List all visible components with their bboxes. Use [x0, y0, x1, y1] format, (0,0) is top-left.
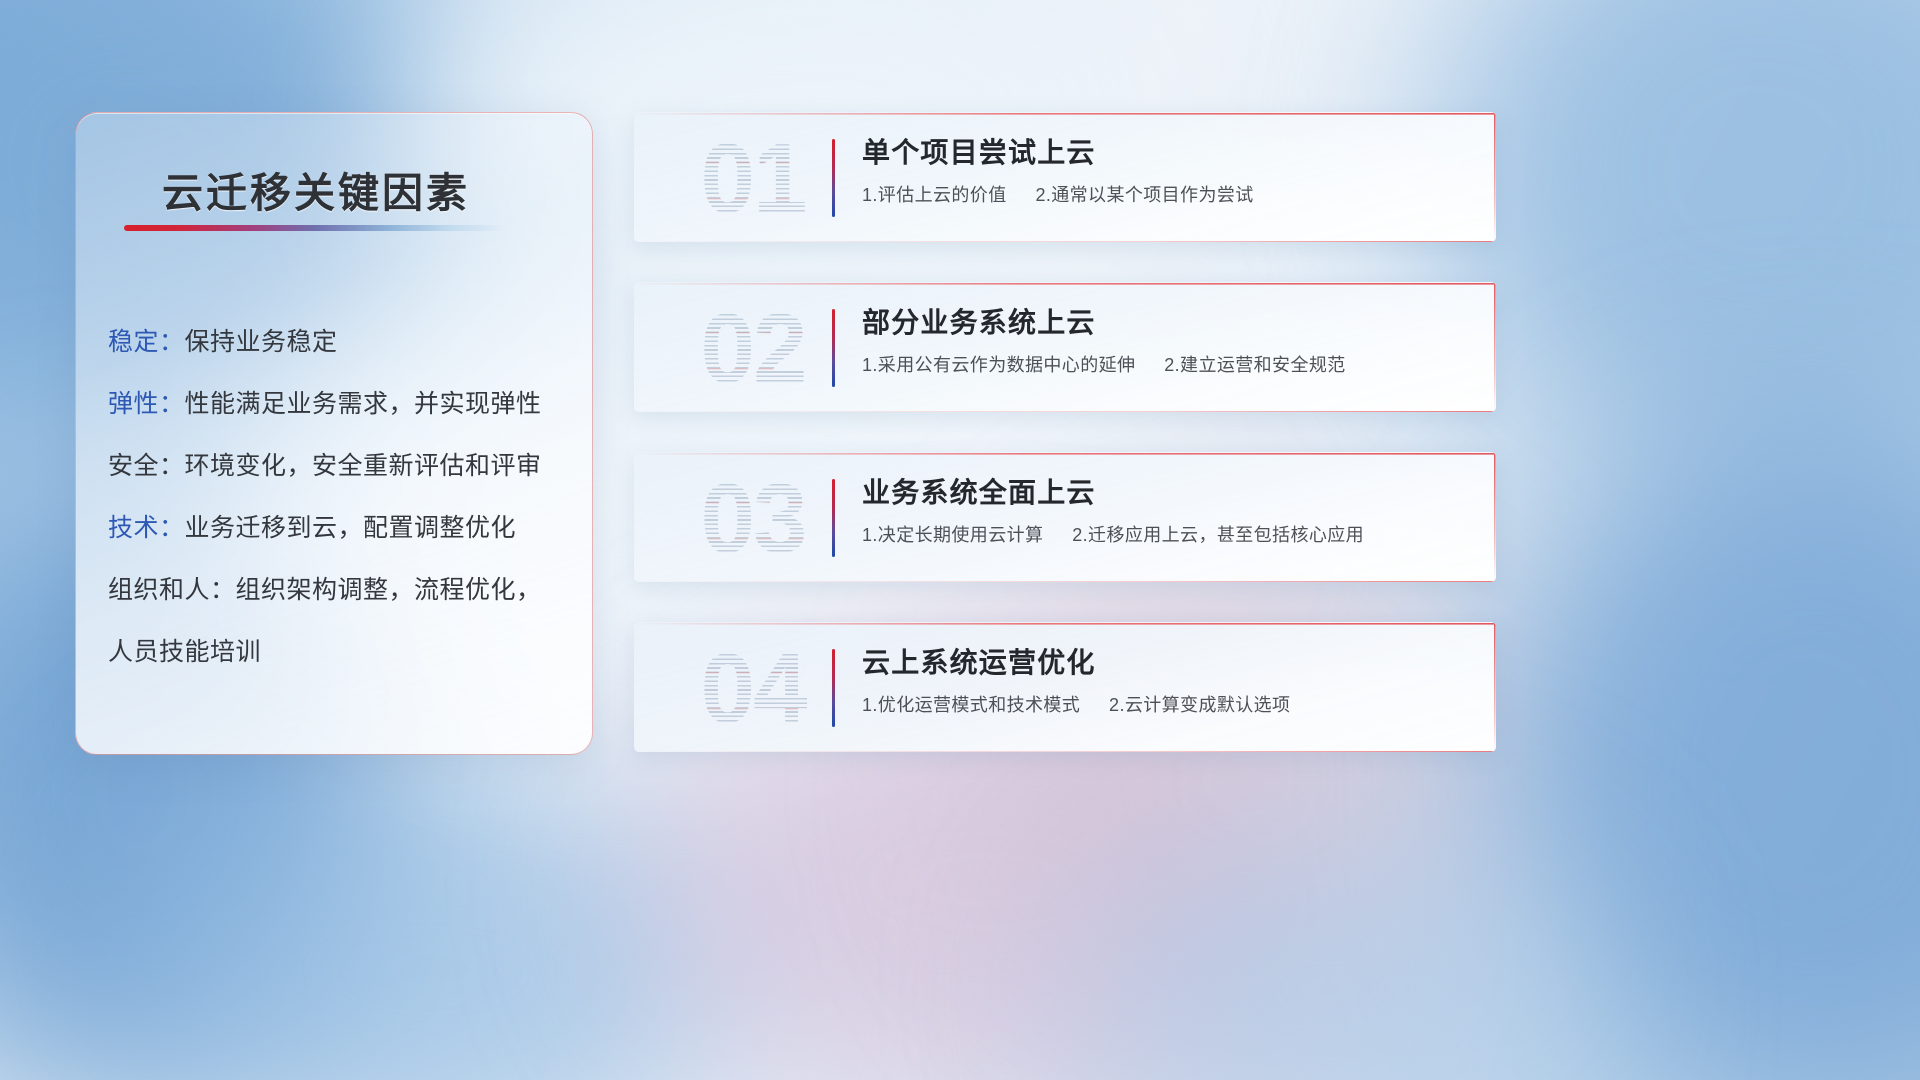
accent-bar [832, 309, 835, 387]
factor-text: 保持业务稳定 [185, 342, 338, 343]
stage-card[interactable]: 01 01 单个项目尝试上云 1.评估上云的价值 2.通常以某个项目作为尝试 [634, 112, 1496, 242]
factor-row: 安全： 环境变化，安全重新评估和评审 [108, 435, 572, 497]
stage-card-subtitle: 1.优化运营模式和技术模式 2.云计算变成默认选项 [862, 692, 1472, 718]
stage-point: 2.建立运营和安全规范 [1164, 355, 1345, 375]
accent-bar [832, 479, 835, 557]
stage-point: 1.采用公有云作为数据中心的延伸 [862, 355, 1135, 375]
factor-label: 技术： [108, 528, 185, 529]
stage-card-list: 01 01 单个项目尝试上云 1.评估上云的价值 2.通常以某个项目作为尝试 0… [634, 112, 1496, 792]
stage-card-title: 云上系统运营优化 [862, 644, 1472, 682]
stage-point: 1.评估上云的价值 [862, 185, 1007, 205]
factor-label: 稳定： [108, 342, 185, 343]
stage-point: 2.云计算变成默认选项 [1109, 695, 1290, 715]
stage-card[interactable]: 04 04 云上系统运营优化 1.优化运营模式和技术模式 2.云计算变成默认选项 [634, 622, 1496, 752]
stage-card-title: 业务系统全面上云 [862, 474, 1472, 512]
factor-row: 技术： 业务迁移到云，配置调整优化 [108, 497, 572, 559]
stage-card-body: 部分业务系统上云 1.采用公有云作为数据中心的延伸 2.建立运营和安全规范 [862, 304, 1472, 378]
stage-number-ghost-tint: 03 [658, 462, 848, 574]
factor-text: 组织架构调整，流程优化， [236, 590, 542, 591]
factor-label: 安全： [108, 466, 185, 467]
stage-card-title: 单个项目尝试上云 [862, 134, 1472, 172]
panel-title: 云迁移关键因素 [162, 159, 470, 219]
factor-label: 组织和人： [108, 590, 236, 591]
factor-text: 性能满足业务需求，并实现弹性 [185, 404, 542, 405]
factor-row: 弹性： 性能满足业务需求，并实现弹性 [108, 373, 572, 435]
stage-point: 1.优化运营模式和技术模式 [862, 695, 1080, 715]
stage-card[interactable]: 03 03 业务系统全面上云 1.决定长期使用云计算 2.迁移应用上云，甚至包括… [634, 452, 1496, 582]
stage-card[interactable]: 02 02 部分业务系统上云 1.采用公有云作为数据中心的延伸 2.建立运营和安… [634, 282, 1496, 412]
stage-card-body: 云上系统运营优化 1.优化运营模式和技术模式 2.云计算变成默认选项 [862, 644, 1472, 718]
factor-label: 弹性： [108, 404, 185, 405]
stage-point: 2.通常以某个项目作为尝试 [1035, 185, 1253, 205]
stage-card-subtitle: 1.采用公有云作为数据中心的延伸 2.建立运营和安全规范 [862, 352, 1472, 378]
factor-text: 环境变化，安全重新评估和评审 [185, 466, 542, 467]
factor-text: 业务迁移到云，配置调整优化 [185, 528, 517, 529]
key-factors-panel: 云迁移关键因素 稳定： 保持业务稳定 弹性： 性能满足业务需求，并实现弹性 安全… [75, 112, 593, 755]
accent-bar [832, 139, 835, 217]
factor-list: 稳定： 保持业务稳定 弹性： 性能满足业务需求，并实现弹性 安全： 环境变化，安… [108, 311, 572, 683]
accent-bar [832, 649, 835, 727]
factor-row: 人员技能培训 [108, 621, 572, 683]
stage-card-subtitle: 1.评估上云的价值 2.通常以某个项目作为尝试 [862, 182, 1472, 208]
factor-text: 人员技能培训 [108, 652, 261, 653]
stage-card-body: 业务系统全面上云 1.决定长期使用云计算 2.迁移应用上云，甚至包括核心应用 [862, 474, 1472, 548]
factor-row: 组织和人： 组织架构调整，流程优化， [108, 559, 572, 621]
stage-number-ghost-tint: 04 [658, 632, 848, 744]
stage-number-ghost-tint: 01 [658, 122, 848, 234]
stage-point: 2.迁移应用上云，甚至包括核心应用 [1072, 525, 1364, 545]
slide-stage: 云迁移关键因素 稳定： 保持业务稳定 弹性： 性能满足业务需求，并实现弹性 安全… [0, 0, 1920, 1080]
stage-number-ghost-tint: 02 [658, 292, 848, 404]
stage-card-title: 部分业务系统上云 [862, 304, 1472, 342]
factor-row: 稳定： 保持业务稳定 [108, 311, 572, 373]
stage-card-body: 单个项目尝试上云 1.评估上云的价值 2.通常以某个项目作为尝试 [862, 134, 1472, 208]
stage-point: 1.决定长期使用云计算 [862, 525, 1043, 545]
stage-card-subtitle: 1.决定长期使用云计算 2.迁移应用上云，甚至包括核心应用 [862, 522, 1472, 548]
title-underline-rule [124, 225, 504, 231]
